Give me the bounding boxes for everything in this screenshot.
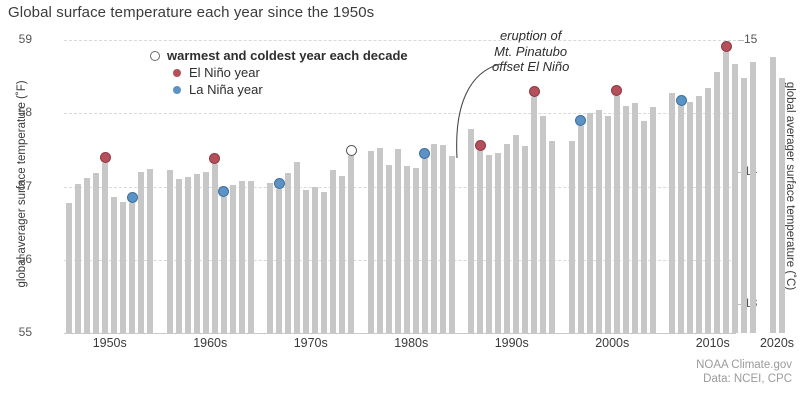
bar-1959 [147,169,153,333]
y-tick-right-15: 15 [744,32,784,46]
bar-1999 [549,141,555,333]
marker-la-nina-1986 [419,148,430,159]
marker-el-nino-1965 [209,153,220,164]
bar-2001 [578,126,584,333]
bar-1988 [440,145,446,333]
bar-2008 [641,121,647,333]
bar-1966 [221,197,227,333]
chart-legend: warmest and coldest year each decade El … [150,47,408,98]
bar-2018 [741,78,747,333]
open-circle-marker-icon [150,51,160,61]
marker-la-nina-1957 [127,192,138,203]
bar-2015 [714,72,720,333]
y-tick-left-56: 56 [0,252,32,266]
bar-1963 [194,174,200,333]
bar-1982 [386,165,392,333]
bar-2021 [779,78,785,333]
bar-1964 [203,172,209,333]
bar-1997 [531,97,537,333]
legend-item-el-nino: El Niño year [172,64,408,81]
marker-el-nino-2005 [611,85,622,96]
blue-dot-marker-icon [173,86,181,94]
bar-2000 [569,141,575,333]
bar-2019 [750,62,756,333]
bar-1984 [404,166,410,333]
x-tick-1980s: 1980s [371,336,451,350]
y-tick-left-55: 55 [0,325,32,339]
y-axis-right-title: global averager surface temperature (˚C) [784,36,796,336]
legend-label-el-nino: El Niño year [189,65,260,80]
bar-1960 [167,170,173,333]
marker-la-nina-1971 [274,178,285,189]
bar-1985 [413,168,419,333]
legend-item-warmest-coldest: warmest and coldest year each decade [150,47,408,64]
x-tick-1950s: 1950s [70,336,150,350]
bar-1967 [230,185,236,333]
bar-1979 [348,156,354,333]
bar-1996 [522,146,528,333]
source-credit: NOAA Climate.gov Data: NCEI, CPC [696,358,792,386]
gridline-55 [64,333,736,334]
legend-label-la-nina: La Niña year [189,82,263,97]
x-tick-2020s: 2020s [737,336,800,350]
chart-root: Global surface temperature each year sin… [0,0,800,400]
bar-2013 [696,96,702,333]
bar-1971 [276,189,282,333]
x-tick-2000s: 2000s [572,336,652,350]
bar-1952 [84,178,90,333]
credit-line-2: Data: NCEI, CPC [696,372,792,386]
bar-1957 [129,203,135,333]
page-title: Global surface temperature each year sin… [8,4,374,21]
bar-2010 [669,93,675,333]
bar-2017 [732,64,738,333]
bar-1987 [431,144,437,333]
annotation-line-2: Mt. Pinatubo [492,44,569,60]
bar-1975 [312,187,318,334]
marker-el-nino-1954 [100,152,111,163]
marker-el-nino-2016 [721,41,732,52]
bar-2005 [614,96,620,333]
bar-1962 [185,177,191,333]
bar-1968 [239,181,245,333]
bar-2016 [723,52,729,333]
marker-la-nina-2011 [676,95,687,106]
marker-la-nina-2001 [575,115,586,126]
x-tick-1990s: 1990s [472,336,552,350]
bar-1955 [111,197,117,333]
y-tick-left-57: 57 [0,179,32,193]
bar-1958 [138,172,144,333]
pinatubo-annotation: eruption of Mt. Pinatubo offset El Niño [492,28,569,75]
bar-1961 [176,179,182,333]
bar-2009 [650,107,656,333]
bar-1950 [66,203,72,333]
bar-2003 [596,110,602,333]
legend-item-la-nina: La Niña year [172,81,408,98]
bar-1953 [93,173,99,333]
x-tick-1970s: 1970s [271,336,351,350]
bar-1956 [120,202,126,333]
bar-1970 [267,183,273,333]
bar-1998 [540,116,546,333]
bar-2006 [623,106,629,333]
credit-line-1: NOAA Climate.gov [696,358,792,372]
bar-1977 [330,170,336,333]
bar-2007 [632,103,638,333]
bar-1995 [513,135,519,333]
bar-1992 [486,155,492,333]
x-tick-1960s: 1960s [170,336,250,350]
bar-1969 [248,181,254,333]
bar-1981 [377,148,383,333]
bar-1972 [285,173,291,333]
marker-warmest-coldest-1979 [346,145,357,156]
bar-1976 [321,192,327,333]
bar-2004 [605,116,611,333]
red-dot-marker-icon [173,69,181,77]
bar-1990 [468,129,474,333]
legend-label-warmest-coldest: warmest and coldest year each decade [167,48,408,63]
bar-1980 [368,151,374,333]
bar-2020 [770,57,776,333]
y-tick-left-59: 59 [0,32,32,46]
y-tick-left-58: 58 [0,105,32,119]
bar-1965 [212,164,218,333]
y-tick-right-dash-15 [738,40,744,41]
bar-1974 [303,190,309,333]
annotation-line-3: offset El Niño [492,59,569,75]
bar-2014 [705,88,711,333]
bar-1973 [294,162,300,333]
marker-el-nino-1997 [529,86,540,97]
bar-2011 [678,106,684,333]
annotation-line-1: eruption of [492,28,569,44]
bar-2012 [687,102,693,333]
marker-el-nino-1991 [475,140,486,151]
bar-1994 [504,144,510,333]
bar-1986 [422,159,428,333]
bar-1954 [102,163,108,333]
bar-1991 [477,151,483,333]
bar-1989 [449,156,455,333]
marker-la-nina-1966 [218,186,229,197]
bar-1993 [495,153,501,333]
bar-1978 [339,176,345,333]
bar-1951 [75,184,81,333]
bar-2002 [587,113,593,333]
gridline-59 [64,40,736,41]
bar-1983 [395,149,401,333]
